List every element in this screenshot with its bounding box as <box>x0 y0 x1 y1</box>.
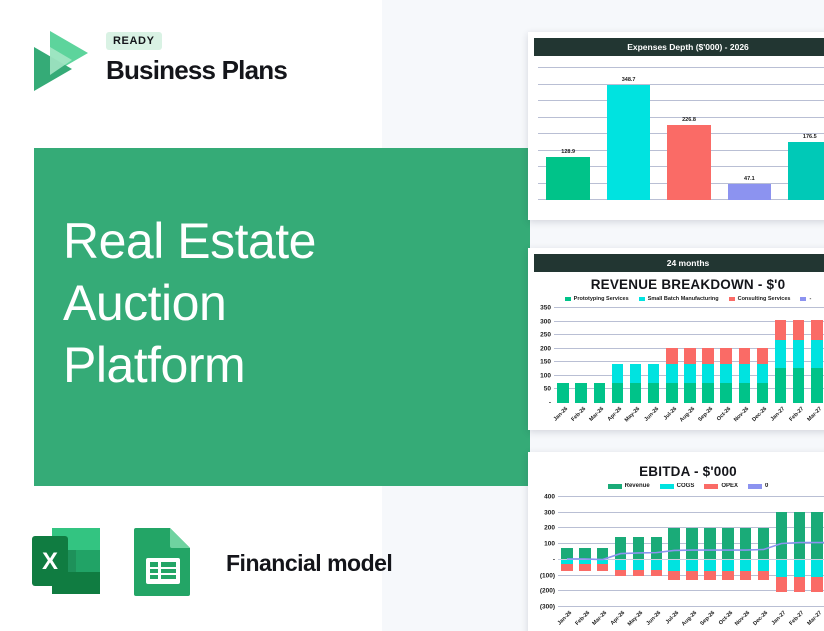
y-axis-tick: (200) <box>540 588 555 595</box>
legend-item: Consulting Services <box>729 296 791 302</box>
bar <box>546 157 589 200</box>
y-axis-tick: (100) <box>540 572 555 579</box>
x-axis-tick: Aug-26 <box>679 406 696 423</box>
y-axis-tick: - <box>553 556 555 563</box>
stacked-bar-segment <box>557 383 569 403</box>
x-axis-tick: Feb-26 <box>570 406 587 423</box>
x-axis-tick: Aug-26 <box>681 610 698 627</box>
bar-value-label: 176.5 <box>803 134 817 140</box>
bar <box>607 85 650 200</box>
stacked-bar-segment <box>684 383 696 403</box>
stacked-bar-segment <box>630 364 642 383</box>
x-axis-tick: Mar-27 <box>806 610 823 627</box>
legend-item: Revenue <box>608 483 650 489</box>
chart-card-revenue: 24 months REVENUE BREAKDOWN - $'0 Protot… <box>528 248 824 430</box>
legend-label: Prototyping Services <box>574 296 629 302</box>
stacked-bar-segment <box>720 364 732 383</box>
legend-swatch <box>660 484 674 489</box>
stacked-bar-segment <box>793 340 805 369</box>
gridline <box>538 84 824 85</box>
x-axis-tick: Jan-27 <box>771 610 788 627</box>
x-axis-tick: Feb-27 <box>789 610 806 627</box>
stacked-bar-segment <box>757 364 769 383</box>
stacked-bar-segment <box>666 383 678 403</box>
stacked-bar-segment <box>811 320 823 340</box>
gridline <box>538 67 824 68</box>
revenue-banner: 24 months <box>534 254 824 272</box>
y-axis-tick: - <box>549 400 551 407</box>
bar <box>728 184 771 200</box>
stacked-bar-segment <box>648 364 660 383</box>
gridline <box>554 307 824 308</box>
page-title-line-3: Platform <box>63 334 503 396</box>
stacked-bar-segment <box>793 368 805 403</box>
ebitda-line-series <box>558 497 824 607</box>
x-axis-tick: Dec-26 <box>753 610 770 627</box>
page-title: Real Estate Auction Platform <box>63 210 503 396</box>
legend-swatch <box>565 297 571 301</box>
expenses-plot-area: 128.9348.7226.847.1176.5 <box>538 68 824 200</box>
stacked-bar-segment <box>757 348 769 364</box>
stacked-bar-segment <box>684 364 696 383</box>
stacked-bar-segment <box>666 348 678 364</box>
stacked-bar-segment <box>648 383 660 403</box>
poster-canvas: READY Business Plans Real Estate Auction… <box>0 0 824 631</box>
stacked-bar-segment <box>630 383 642 403</box>
legend-item: Prototyping Services <box>565 296 629 302</box>
legend-label: Consulting Services <box>738 296 791 302</box>
stacked-bar-segment <box>811 340 823 369</box>
legend-label: Small Batch Manufacturing <box>648 296 719 302</box>
chart-card-expenses: Expenses Depth ($'000) - 2026 128.9348.7… <box>528 32 824 220</box>
bar <box>788 142 824 200</box>
stacked-bar-segment <box>720 383 732 403</box>
x-axis-tick: Oct-26 <box>716 406 732 422</box>
legend-label: - <box>809 296 811 302</box>
x-axis-tick: Sep-26 <box>697 406 714 423</box>
brand-text: READY Business Plans <box>106 31 287 86</box>
legend-label: OPEX <box>721 483 738 489</box>
x-axis-tick: Mar-26 <box>589 406 606 423</box>
x-axis-tick: Jan-26 <box>553 406 570 423</box>
legend-item: COGS <box>660 483 695 489</box>
stacked-bar-segment <box>594 383 606 403</box>
bar-value-label: 47.1 <box>744 176 755 182</box>
stacked-bar-segment <box>811 368 823 403</box>
stacked-bar-segment <box>612 383 624 403</box>
google-sheets-icon <box>130 526 196 596</box>
stacked-bar-segment <box>757 383 769 403</box>
x-axis-tick: Mar-27 <box>806 406 823 423</box>
legend-item: Small Batch Manufacturing <box>639 296 719 302</box>
financial-model-label: Financial model <box>226 550 392 577</box>
x-axis-tick: Jun-26 <box>646 610 663 627</box>
x-axis-tick: Apr-26 <box>610 610 627 627</box>
x-axis-tick: Mar-26 <box>592 610 609 627</box>
legend-swatch <box>800 297 806 301</box>
chart-card-ebitda: EBITDA - $'000 RevenueCOGSOPEX0 40030020… <box>528 452 824 631</box>
y-axis-tick: 200 <box>540 345 551 352</box>
x-axis-tick: May-26 <box>627 610 644 627</box>
bar-value-label: 348.7 <box>622 77 636 83</box>
brand-name: Business Plans <box>106 55 287 86</box>
ebitda-legend: RevenueCOGSOPEX0 <box>528 483 824 489</box>
x-axis-tick: Jan-26 <box>556 610 573 627</box>
legend-item: 0 <box>748 483 768 489</box>
gridline <box>538 100 824 101</box>
legend-swatch <box>704 484 718 489</box>
legend-label: COGS <box>677 483 695 489</box>
x-axis-tick: Feb-26 <box>574 610 591 627</box>
gridline <box>538 117 824 118</box>
y-axis-tick: (300) <box>540 604 555 611</box>
stacked-bar-segment <box>739 364 751 383</box>
ready-badge: READY <box>106 32 162 50</box>
x-axis-tick: Oct-26 <box>717 610 733 626</box>
svg-text:X: X <box>42 548 58 575</box>
stacked-bar-segment <box>702 383 714 403</box>
page-title-line-2: Auction <box>63 272 503 334</box>
page-title-line-1: Real Estate <box>63 210 503 272</box>
expenses-chart-title: Expenses Depth ($'000) - 2026 <box>534 38 824 56</box>
revenue-chart-title: REVENUE BREAKDOWN - $'0 <box>528 277 824 292</box>
y-axis-tick: 400 <box>544 494 555 501</box>
hero-block: Real Estate Auction Platform <box>34 148 530 486</box>
y-axis-tick: 100 <box>544 541 555 548</box>
x-axis-tick: Jul-26 <box>662 406 677 421</box>
revenue-legend: Prototyping ServicesSmall Batch Manufact… <box>528 296 824 302</box>
stacked-bar-segment <box>702 364 714 383</box>
stacked-bar-segment <box>684 348 696 364</box>
stacked-bar-segment <box>775 340 787 369</box>
stacked-bar-segment <box>575 383 587 403</box>
x-axis-tick: Dec-26 <box>751 406 768 423</box>
x-axis-tick: Sep-26 <box>699 610 716 627</box>
y-axis-tick: 300 <box>540 318 551 325</box>
stacked-bar-segment <box>739 383 751 403</box>
ebitda-chart-title: EBITDA - $'000 <box>528 464 824 479</box>
stacked-bar-segment <box>702 348 714 364</box>
legend-swatch <box>639 297 645 301</box>
x-axis-tick: May-26 <box>624 406 641 423</box>
stacked-bar-segment <box>775 368 787 403</box>
bar-value-label: 226.8 <box>682 117 696 123</box>
legend-item: - <box>800 296 811 302</box>
y-axis-tick: 350 <box>540 305 551 312</box>
x-axis-tick: Jan-27 <box>770 406 787 423</box>
x-axis-tick: Feb-27 <box>788 406 805 423</box>
stacked-bar-segment <box>739 348 751 364</box>
legend-label: Revenue <box>625 483 650 489</box>
y-axis-tick: 200 <box>544 525 555 532</box>
play-double-icon <box>30 29 92 93</box>
brand-logo: READY Business Plans <box>30 27 360 97</box>
y-axis-tick: 100 <box>540 372 551 379</box>
y-axis-tick: 150 <box>540 359 551 366</box>
legend-swatch <box>748 484 762 489</box>
revenue-plot-area: 35030025020015010050-Jan-26Feb-26Mar-26A… <box>554 308 824 403</box>
legend-label: 0 <box>765 483 768 489</box>
microsoft-excel-icon: X <box>30 526 102 596</box>
bar-value-label: 128.9 <box>561 149 575 155</box>
x-axis-tick: Jun-26 <box>643 406 660 423</box>
x-axis-tick: Apr-26 <box>607 406 624 423</box>
bar <box>667 125 710 200</box>
x-axis-tick: Nov-26 <box>734 610 751 627</box>
stacked-bar-segment <box>775 320 787 340</box>
legend-swatch <box>729 297 735 301</box>
stacked-bar-segment <box>793 320 805 340</box>
stacked-bar-segment <box>720 348 732 364</box>
x-axis-tick: Jul-26 <box>665 610 680 625</box>
legend-swatch <box>608 484 622 489</box>
x-axis-tick: Nov-26 <box>733 406 750 423</box>
stacked-bar-segment <box>666 364 678 383</box>
legend-item: OPEX <box>704 483 738 489</box>
ebitda-plot-area: 400300200100-(100)(200)(300)Jan-26Feb-26… <box>558 497 824 607</box>
y-axis-tick: 50 <box>544 386 551 393</box>
y-axis-tick: 250 <box>540 332 551 339</box>
y-axis-tick: 300 <box>544 509 555 516</box>
stacked-bar-segment <box>612 364 624 383</box>
